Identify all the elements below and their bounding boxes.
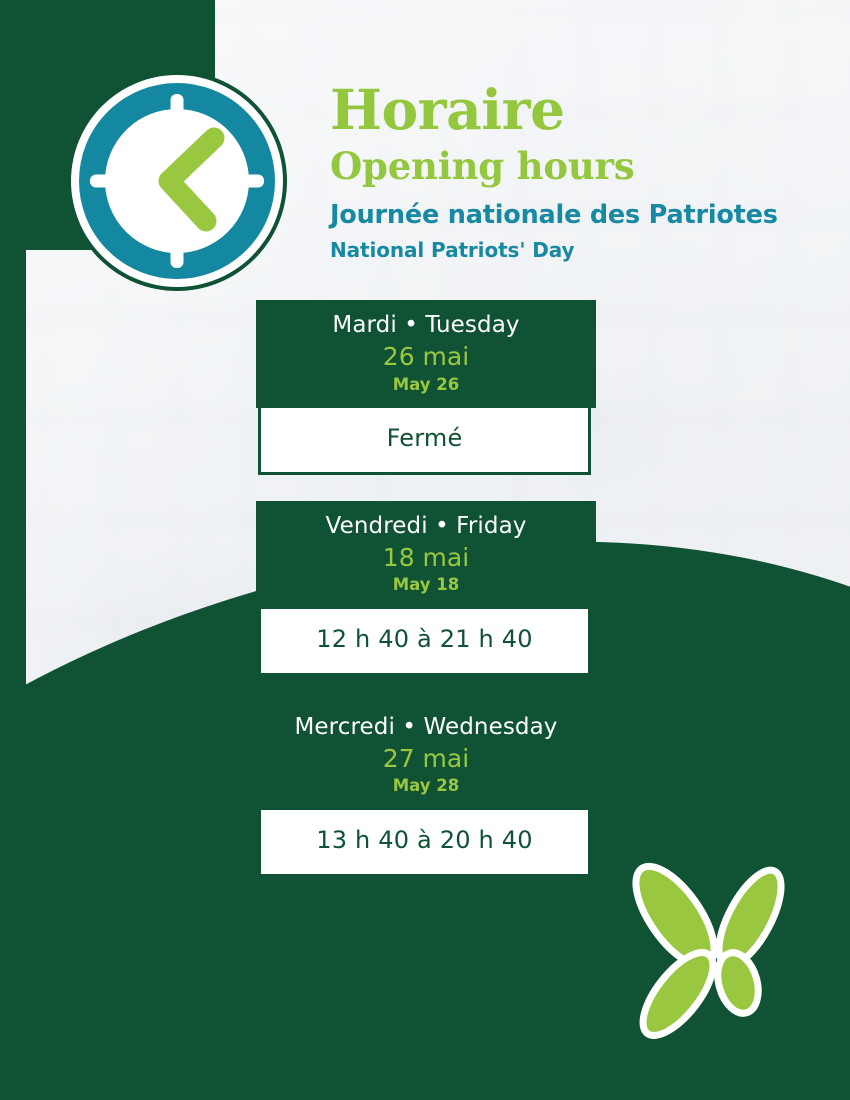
schedule-hours: 13 h 40 à 20 h 40 <box>265 827 584 855</box>
page-title-en: Opening hours <box>330 144 840 188</box>
page-subtitle-en: National Patriots' Day <box>330 238 840 263</box>
schedule-hours: 12 h 40 à 21 h 40 <box>265 626 584 654</box>
schedule-card: Mardi • Tuesday 26 mai May 26 Fermé <box>256 300 596 475</box>
schedule-card-body: 13 h 40 à 20 h 40 <box>258 810 591 877</box>
schedule-hours: Fermé <box>265 425 584 453</box>
schedule-card-header: Mercredi • Wednesday 27 mai May 28 <box>256 702 596 810</box>
schedule-card: Vendredi • Friday 18 mai May 18 12 h 40 … <box>256 501 596 676</box>
schedule-card-body: Fermé <box>258 408 591 475</box>
page-title-fr: Horaire <box>330 82 840 138</box>
schedule-date-en: May 26 <box>262 375 590 395</box>
schedule-day-label: Mardi • Tuesday <box>262 313 590 338</box>
clock-icon <box>66 70 288 292</box>
schedule-card: Mercredi • Wednesday 27 mai May 28 13 h … <box>256 702 596 877</box>
schedule-date-fr: 26 mai <box>262 341 590 372</box>
schedule-date-fr: 18 mai <box>262 542 590 573</box>
schedule-date-en: May 28 <box>262 776 590 796</box>
schedule-day-label: Mercredi • Wednesday <box>262 715 590 740</box>
schedule-date-fr: 27 mai <box>262 743 590 774</box>
schedule-date-en: May 18 <box>262 575 590 595</box>
opening-hours-poster: Horaire Opening hours Journée nationale … <box>0 0 850 1100</box>
butterfly-logo-icon <box>614 856 814 1056</box>
schedule-card-body: 12 h 40 à 21 h 40 <box>258 609 591 676</box>
schedule-card-header: Mardi • Tuesday 26 mai May 26 <box>256 300 596 408</box>
schedule-card-header: Vendredi • Friday 18 mai May 18 <box>256 501 596 609</box>
schedule-day-label: Vendredi • Friday <box>262 514 590 539</box>
poster-header: Horaire Opening hours Journée nationale … <box>330 82 840 263</box>
page-subtitle-fr: Journée nationale des Patriotes <box>330 200 840 231</box>
schedule-list: Mardi • Tuesday 26 mai May 26 Fermé Vend… <box>256 300 596 903</box>
